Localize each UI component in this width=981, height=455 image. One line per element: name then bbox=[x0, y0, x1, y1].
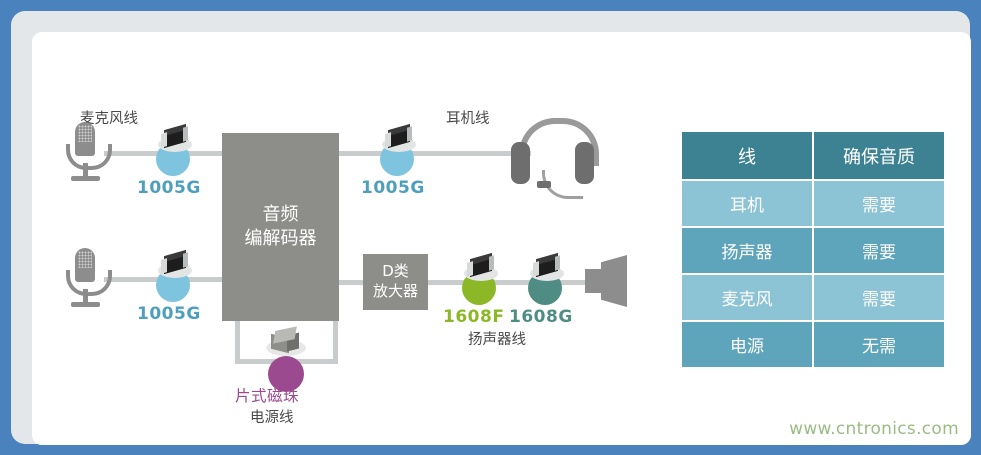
ferrite-bead-icon bbox=[266, 328, 306, 360]
table-cell-name: 耳机 bbox=[682, 181, 812, 226]
chip-terminal-left bbox=[161, 132, 167, 148]
chip-terminal-right bbox=[489, 255, 494, 270]
chip-terminal-right bbox=[183, 126, 188, 141]
codec-label-line2: 编解码器 bbox=[245, 228, 317, 249]
part-label-headphone: 1005G bbox=[361, 178, 425, 198]
smd-chip-icon-mic-bottom bbox=[158, 254, 192, 280]
chip-terminal-right bbox=[555, 255, 560, 270]
label-headphone-line: 耳机线 bbox=[446, 107, 490, 128]
smd-chip-icon-headphone bbox=[382, 128, 416, 154]
part-label-mic-bottom: 1005G bbox=[137, 304, 201, 324]
smd-chip-icon-mic-top bbox=[158, 128, 192, 154]
label-power-line: 电源线 bbox=[250, 406, 294, 427]
part-label-ferrite-bead: 片式磁珠 bbox=[235, 384, 299, 406]
headset-icon bbox=[509, 118, 597, 198]
table-cell-name: 扬声器 bbox=[682, 228, 812, 273]
amp-label-line1: D类 bbox=[382, 262, 409, 280]
mic-base bbox=[71, 302, 100, 307]
diagram-canvas: 麦克风线 耳机线 扬声器线 电源线 1005G bbox=[32, 32, 971, 445]
table-cell-value: 需要 bbox=[814, 275, 944, 320]
table-header-cell-quality: 确保音质 bbox=[814, 132, 944, 179]
table-cell-value: 需要 bbox=[814, 228, 944, 273]
speaker-icon bbox=[585, 255, 629, 307]
mic-grille bbox=[78, 251, 92, 268]
class-d-amplifier-block: D类 放大器 bbox=[363, 254, 428, 310]
outer-frame: 麦克风线 耳机线 扬声器线 电源线 1005G bbox=[0, 0, 981, 455]
chip-terminal-right bbox=[407, 126, 412, 141]
audio-codec-block: 音频 编解码器 bbox=[222, 133, 339, 321]
wire-codec-to-headphone bbox=[337, 151, 531, 156]
mic-yoke bbox=[66, 144, 112, 170]
table-header-row: 线 确保音质 bbox=[682, 132, 944, 179]
codec-label-line1: 音频 bbox=[263, 204, 299, 225]
microphone-icon-bottom bbox=[62, 248, 108, 310]
part-label-spk-g: 1608G bbox=[509, 307, 573, 327]
frame-bevel: 麦克风线 耳机线 扬声器线 电源线 1005G bbox=[11, 11, 970, 444]
chip-terminal-left bbox=[161, 258, 167, 274]
table-row: 电源 无需 bbox=[682, 322, 944, 367]
table-cell-value: 无需 bbox=[814, 322, 944, 367]
part-label-spk-f: 1608F bbox=[443, 307, 504, 327]
chip-terminal-left bbox=[467, 261, 473, 277]
mic-yoke bbox=[66, 270, 112, 296]
smd-chip-icon-spk-g bbox=[530, 257, 564, 283]
table-cell-value: 需要 bbox=[814, 181, 944, 226]
table-cell-name: 电源 bbox=[682, 322, 812, 367]
wire-amp-to-speaker bbox=[426, 280, 590, 285]
mic-stem bbox=[83, 289, 88, 303]
table-row: 扬声器 需要 bbox=[682, 228, 944, 273]
headset-earcup-left bbox=[511, 142, 530, 184]
requirement-table: 线 确保音质 耳机 需要 扬声器 需要 麦克风 需要 bbox=[680, 130, 946, 369]
speaker-horn bbox=[601, 255, 627, 307]
table-header-cell-line: 线 bbox=[682, 132, 812, 179]
chip-terminal-right bbox=[183, 252, 188, 267]
headset-boom-mic bbox=[537, 181, 551, 188]
table-row: 麦克风 需要 bbox=[682, 275, 944, 320]
table-row: 耳机 需要 bbox=[682, 181, 944, 226]
table-cell-name: 麦克风 bbox=[682, 275, 812, 320]
microphone-icon-top bbox=[62, 122, 108, 184]
smd-chip-icon-spk-f bbox=[464, 257, 498, 283]
watermark: www.cntronics.com bbox=[789, 419, 959, 439]
label-speaker-line: 扬声器线 bbox=[468, 328, 526, 349]
amp-label-line2: 放大器 bbox=[373, 282, 418, 300]
wire-power-left bbox=[235, 319, 240, 363]
chip-terminal-left bbox=[385, 132, 391, 148]
mic-stem bbox=[83, 163, 88, 177]
chip-terminal-left bbox=[533, 261, 539, 277]
part-label-mic-top: 1005G bbox=[137, 178, 201, 198]
wire-power-right bbox=[333, 319, 338, 363]
mic-grille bbox=[78, 125, 92, 142]
speaker-body bbox=[585, 269, 601, 293]
mic-base bbox=[71, 176, 100, 181]
